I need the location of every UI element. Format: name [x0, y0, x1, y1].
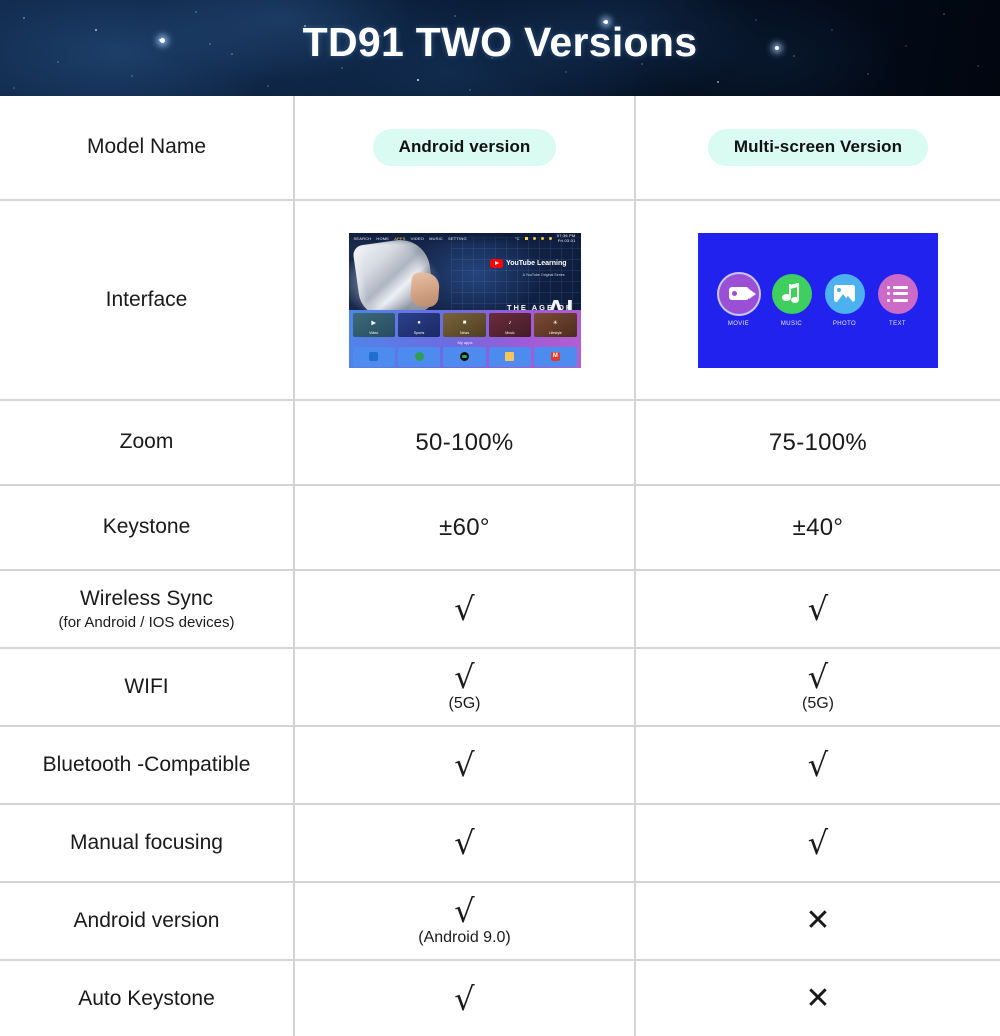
value-note: (Android 9.0) — [418, 929, 511, 947]
nav-item-video[interactable]: VIDEO — [411, 236, 424, 241]
value-cell-android: √ — [294, 960, 635, 1036]
table-row: Manual focusing √ √ — [0, 804, 1000, 882]
app-tile[interactable] — [398, 347, 440, 367]
category-label: Sports — [414, 331, 424, 335]
row-label-cell: Bluetooth -Compatible — [0, 726, 294, 804]
nav-item-setting[interactable]: SETTING — [448, 236, 467, 241]
row-label: Auto Keystone — [4, 986, 289, 1012]
row-label-cell: Wireless Sync (for Android / IOS devices… — [0, 570, 294, 648]
table-row: Wireless Sync (for Android / IOS devices… — [0, 570, 1000, 648]
nav-item-music[interactable]: MUSIC — [429, 236, 443, 241]
row-label-cell: Interface — [0, 200, 294, 400]
cell-value: ±60° — [439, 514, 490, 541]
row-label: Bluetooth -Compatible — [4, 752, 289, 778]
value-cell-android: √ (Android 9.0) — [294, 882, 635, 960]
value-cell-multiscreen: 75-100% — [635, 400, 1000, 485]
category-label: Lifestyle — [549, 331, 562, 335]
multiscreen-menu-item[interactable]: MOVIE — [719, 274, 759, 327]
browser-app-icon — [415, 352, 424, 361]
table-row: WIFI √ (5G) √ (5G) — [0, 648, 1000, 726]
value-cell-multiscreen: √ — [635, 726, 1000, 804]
row-label-cell: Android version — [0, 882, 294, 960]
row-label: Android version — [4, 908, 289, 934]
check-mark-icon: √ — [454, 895, 474, 927]
category-label: Music — [505, 331, 514, 335]
android-tv-home-screenshot: SEARCH HOME APPS VIDEO MUSIC SETTING °C — [349, 233, 581, 368]
header-android-cell: Android version — [294, 96, 635, 200]
music-note-icon: ♪ — [508, 320, 511, 326]
files-app-icon — [505, 352, 514, 361]
temperature-label: °C — [515, 236, 520, 241]
category-card[interactable]: ■ News — [443, 313, 485, 337]
table-header-row: Model Name Android version Multi-screen … — [0, 96, 1000, 200]
android-top-nav: SEARCH HOME APPS VIDEO MUSIC SETTING °C — [349, 233, 581, 245]
hero-banner: TD91 TWO Versions — [0, 0, 1000, 96]
row-label-cell: WIFI — [0, 648, 294, 726]
multiscreen-item-label: MUSIC — [781, 321, 802, 327]
row-label-cell: Auto Keystone — [0, 960, 294, 1036]
cell-value: ±40° — [793, 514, 844, 541]
nav-item-apps[interactable]: APPS — [394, 236, 405, 241]
check-mark-icon: √ — [299, 749, 630, 781]
row-label-cell: Manual focusing — [0, 804, 294, 882]
play-icon: ▶ — [371, 320, 376, 327]
photo-image-icon — [834, 285, 855, 302]
check-mark-icon: √ — [299, 593, 630, 625]
spec-comparison-table: Model Name Android version Multi-screen … — [0, 96, 1000, 1036]
comparison-page: TD91 TWO Versions Model Name Android ver… — [0, 0, 1000, 1036]
store-app-icon — [369, 352, 378, 361]
check-mark-icon: √ — [640, 827, 996, 859]
my-apps-label: My apps — [354, 340, 577, 345]
table-row: Bluetooth -Compatible √ √ — [0, 726, 1000, 804]
category-card[interactable]: ● Sports — [398, 313, 440, 337]
weather-icon — [533, 237, 536, 240]
row-label: Wireless Sync — [4, 586, 289, 612]
photo-circle — [825, 274, 865, 314]
cell-value: 75-100% — [769, 429, 867, 456]
row-label: Interface — [4, 287, 289, 313]
row-label-sub: (for Android / IOS devices) — [4, 613, 289, 633]
value-note: (5G) — [802, 695, 834, 713]
value-cell-multiscreen: ✕ — [635, 960, 1000, 1036]
category-label: News — [460, 331, 469, 335]
table-row: Auto Keystone √ ✕ — [0, 960, 1000, 1036]
my-apps-row — [353, 347, 577, 367]
music-circle — [772, 274, 812, 314]
app-tile[interactable] — [489, 347, 531, 367]
youtube-brand-text: YouTube Learning — [506, 260, 566, 267]
movie-circle — [719, 274, 759, 314]
value-cell-multiscreen: ✕ — [635, 882, 1000, 960]
multiscreen-item-label: MOVIE — [728, 321, 749, 327]
value-cell-multiscreen: √ — [635, 804, 1000, 882]
category-card[interactable]: ☀ Lifestyle — [534, 313, 576, 337]
table-row: Zoom 50-100% 75-100% — [0, 400, 1000, 485]
value-cell-android: √ — [294, 570, 635, 648]
category-card[interactable]: ♪ Music — [489, 313, 531, 337]
movie-camera-icon — [729, 287, 749, 300]
check-mark-icon: √ — [299, 827, 630, 859]
bluetooth-icon — [541, 237, 544, 240]
row-label: Manual focusing — [4, 830, 289, 856]
page-title: TD91 TWO Versions — [0, 18, 1000, 67]
text-list-icon — [887, 286, 908, 302]
wifi-icon — [549, 237, 552, 240]
app-tile[interactable] — [353, 347, 395, 367]
app-tile[interactable] — [443, 347, 485, 367]
check-mark-icon: √ — [808, 661, 828, 693]
status-square-icon — [525, 237, 528, 240]
table-row: Android version √ (Android 9.0) ✕ — [0, 882, 1000, 960]
row-label-cell: Zoom — [0, 400, 294, 485]
check-mark-icon: √ — [640, 749, 996, 781]
value-stack: √ (Android 9.0) — [299, 895, 630, 947]
multiscreen-menu-item[interactable]: PHOTO — [825, 274, 865, 327]
header-multiscreen-cell: Multi-screen Version — [635, 96, 1000, 200]
row-label: Keystone — [4, 514, 289, 540]
category-label: Video — [369, 331, 378, 335]
value-cell-multiscreen: √ (5G) — [635, 648, 1000, 726]
row-label: WIFI — [4, 674, 289, 700]
value-stack: √ (5G) — [299, 661, 630, 713]
check-mark-icon: √ — [454, 661, 474, 693]
table-row: Keystone ±60° ±40° — [0, 485, 1000, 570]
android-interface-cell: SEARCH HOME APPS VIDEO MUSIC SETTING °C — [294, 200, 635, 400]
text-circle — [878, 274, 918, 314]
android-screenshot-wrapper: SEARCH HOME APPS VIDEO MUSIC SETTING °C — [299, 233, 630, 368]
multiscreen-menu-item[interactable]: MUSIC — [772, 274, 812, 327]
app-tile[interactable] — [534, 347, 576, 367]
multi-screen-version-badge[interactable]: Multi-screen Version — [708, 129, 928, 166]
value-cell-android: ±60° — [294, 485, 635, 570]
value-cell-android: √ — [294, 804, 635, 882]
youtube-brand-subtitle: A YouTube Original Series — [523, 273, 565, 277]
cell-value: 50-100% — [415, 429, 513, 456]
row-label-cell: Keystone — [0, 485, 294, 570]
value-cell-android: √ — [294, 726, 635, 804]
robot-arm-image — [352, 236, 436, 320]
multiscreen-item-label: PHOTO — [833, 321, 856, 327]
nav-item-home[interactable]: HOME — [376, 236, 389, 241]
model-name-label: Model Name — [4, 134, 289, 160]
table-row: Interface SEARCH HOME APPS VIDEO — [0, 200, 1000, 400]
multiscreen-interface-cell: MOVIE MUSIC — [635, 200, 1000, 400]
news-icon: ■ — [463, 320, 467, 326]
multiscreen-menu-item[interactable]: TEXT — [878, 274, 918, 327]
music-note-icon — [782, 284, 802, 304]
check-mark-icon: √ — [640, 593, 996, 625]
nav-item-search[interactable]: SEARCH — [354, 236, 372, 241]
sports-icon: ● — [417, 320, 421, 326]
clock-date: Fri.03.01 — [558, 238, 576, 243]
value-stack: √ (5G) — [640, 661, 996, 713]
check-mark-icon: √ — [299, 983, 630, 1015]
youtube-play-icon — [490, 259, 503, 268]
value-cell-android: √ (5G) — [294, 648, 635, 726]
cross-mark-icon: ✕ — [640, 984, 996, 1014]
value-note: (5G) — [449, 695, 481, 713]
value-cell-multiscreen: √ — [635, 570, 1000, 648]
category-card-row: ▶ Video ● Sports ■ News — [353, 313, 577, 337]
category-card[interactable]: ▶ Video — [353, 313, 395, 337]
value-cell-android: 50-100% — [294, 400, 635, 485]
spotify-app-icon — [460, 352, 469, 361]
multiscreen-screenshot-wrapper: MOVIE MUSIC — [640, 233, 996, 368]
android-version-badge[interactable]: Android version — [373, 129, 557, 166]
lifestyle-icon: ☀ — [553, 320, 558, 327]
value-cell-multiscreen: ±40° — [635, 485, 1000, 570]
cross-mark-icon: ✕ — [640, 906, 996, 936]
multi-screen-menu-screenshot: MOVIE MUSIC — [698, 233, 938, 368]
row-label: Zoom — [4, 429, 289, 455]
header-label-cell: Model Name — [0, 96, 294, 200]
youtube-learning-brand: YouTube Learning — [490, 259, 566, 268]
clock-display: 07:36 PM Fri.03.01 — [557, 234, 576, 243]
android-content-rows: ▶ Video ● Sports ■ News — [349, 310, 581, 368]
multiscreen-item-label: TEXT — [889, 321, 906, 327]
media-app-icon — [551, 352, 560, 361]
